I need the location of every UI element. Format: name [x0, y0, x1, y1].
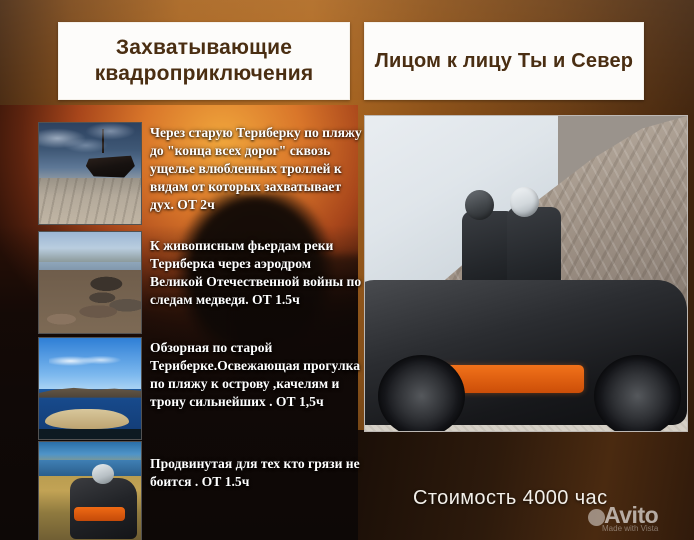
poster-root: Захватывающие квадроприключения Лицом к …: [0, 0, 694, 540]
photo-helmet-white: [510, 187, 539, 217]
cloud-layer: [39, 123, 141, 174]
photo-helmet-dark: [465, 190, 494, 220]
atv-tundra-photo: [38, 441, 142, 540]
tour-row: Продвинутая для тех кто грязи не боится …: [38, 441, 362, 540]
photo-wheel-left: [378, 355, 465, 432]
tour-description: Через старую Териберку по пляжу до "конц…: [150, 124, 362, 214]
bay-foreground: [39, 429, 141, 439]
tour-description: Обзорная по старой Териберке.Освежающая …: [150, 339, 362, 411]
price-panel-background: [358, 430, 694, 540]
tour-row: Через старую Териберку по пляжу до "конц…: [38, 122, 362, 225]
tour-description: К живописным фьердам реки Териберка чере…: [150, 237, 362, 309]
photo-wheel-right: [594, 355, 681, 432]
tundra-quad-accent: [74, 507, 125, 521]
tundra-water: [39, 460, 141, 476]
price-label: Стоимость 4000 час: [413, 487, 607, 510]
atv-riders-cliff-photo: [364, 115, 688, 432]
headline-box-left: Захватывающие квадроприключения: [58, 22, 350, 100]
headline-box-right: Лицом к лицу Ты и Север: [364, 22, 644, 100]
bay-sandbar: [45, 409, 129, 429]
sand-texture: [39, 178, 141, 224]
headline-right-text: Лицом к лицу Ты и Север: [369, 49, 639, 73]
tour-row: Обзорная по старой Териберке.Освежающая …: [38, 337, 362, 440]
blue-bay-photo: [38, 337, 142, 440]
shipwreck-photo: [38, 122, 142, 225]
headline-left-text: Захватывающие квадроприключения: [59, 35, 349, 86]
rocks-layer: [39, 270, 141, 333]
bay-cloud: [49, 356, 120, 366]
tour-row: К живописным фьердам реки Териберка чере…: [38, 231, 362, 334]
tour-description: Продвинутая для тех кто грязи не боится …: [150, 455, 362, 491]
stone-cairn-photo: [38, 231, 142, 334]
